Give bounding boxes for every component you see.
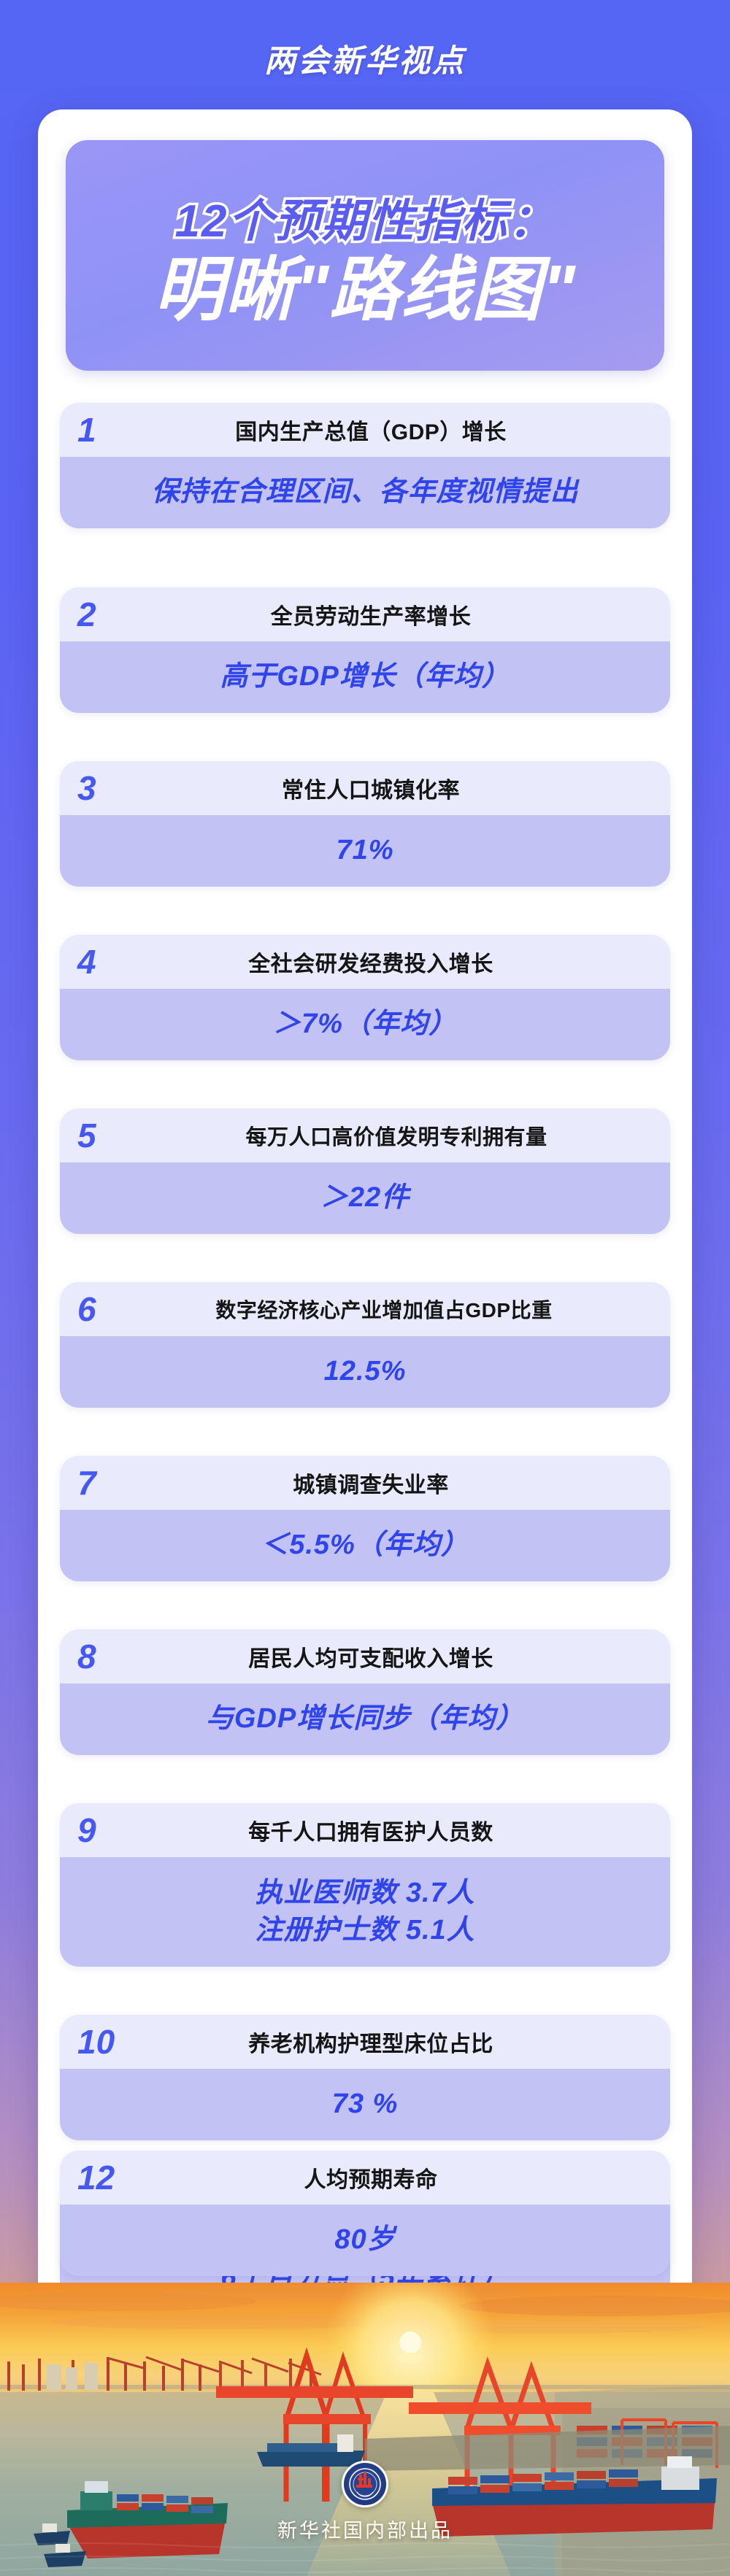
indicator-head-5: 5 每万人口高价值发明专利拥有量 — [60, 1108, 670, 1162]
indicator-head-2: 2 全员劳动生产率增长 — [60, 587, 670, 641]
indicator-value-9-line1: 执业医师数 3.7人 — [255, 1875, 474, 1912]
indicator-value-3: 71% — [336, 832, 393, 869]
indicator-head-8: 8 居民人均可支配收入增长 — [60, 1630, 670, 1684]
indicator-value-8: 与GDP增长同步（年均） — [206, 1700, 524, 1738]
indicator-head-1: 1 国内生产总值（GDP）增长 — [60, 403, 670, 457]
indicator-number-5: 5 — [77, 1119, 140, 1152]
indicator-value-6: 12.5% — [324, 1353, 407, 1390]
indicator-card-8[interactable]: 8 居民人均可支配收入增长 与GDP增长同步（年均） — [60, 1630, 670, 1755]
indicator-label-6: 数字经济核心产业增加值占GDP比重 — [115, 1295, 653, 1324]
indicator-head-7: 7 城镇调查失业率 — [60, 1456, 670, 1510]
indicator-label-5: 每万人口高价值发明专利拥有量 — [140, 1120, 653, 1151]
indicator-value-12: 80岁 — [334, 2221, 395, 2259]
indicator-number-7: 7 — [77, 1466, 140, 1500]
indicator-value-box-12: 80岁 — [60, 2205, 670, 2276]
indicator-label-4: 全社会研发经费投入增长 — [140, 946, 653, 978]
indicator-label-7: 城镇调查失业率 — [140, 1467, 653, 1499]
indicator-label-1: 国内生产总值（GDP）增长 — [140, 414, 653, 446]
indicator-value-box-9: 执业医师数 3.7人 注册护士数 5.1人 — [60, 1857, 670, 1967]
indicator-number-6: 6 — [77, 1292, 115, 1326]
infographic-page: 两会新华视点 12个预期性指标： 明晰"路线图" 1 国内生产总值（GDP）增长… — [0, 0, 730, 2576]
indicator-label-9: 每千人口拥有医护人员数 — [140, 1814, 653, 1846]
indicator-label-8: 居民人均可支配收入增长 — [140, 1640, 653, 1673]
indicator-card-5[interactable]: 5 每万人口高价值发明专利拥有量 ＞22件 — [60, 1108, 670, 1234]
indicator-value-box-1: 保持在合理区间、各年度视情提出 — [60, 457, 670, 528]
indicator-label-2: 全员劳动生产率增长 — [140, 598, 653, 630]
indicator-label-10: 养老机构护理型床位占比 — [140, 2026, 653, 2058]
indicator-number-4: 4 — [77, 945, 140, 979]
title-line-2: 明晰"路线图" — [154, 254, 576, 328]
indicator-number-1: 1 — [77, 413, 140, 447]
footer-credit-text: 新华社国内部出品 — [277, 2515, 453, 2543]
indicator-card-3[interactable]: 3 常住人口城镇化率 71% — [60, 761, 670, 887]
indicator-value-2: 高于GDP增长（年均） — [220, 658, 510, 695]
indicator-number-12: 12 — [77, 2161, 140, 2194]
masthead-title: 两会新华视点 — [264, 36, 466, 81]
indicator-value-4: ＞7%（年均） — [273, 1006, 457, 1043]
indicator-number-8: 8 — [77, 1640, 140, 1673]
indicator-head-6: 6 数字经济核心产业增加值占GDP比重 — [60, 1282, 670, 1336]
indicator-value-box-8: 与GDP增长同步（年均） — [60, 1684, 670, 1755]
indicator-number-3: 3 — [77, 771, 140, 805]
indicator-value-10: 73 % — [332, 2086, 399, 2123]
title-card: 12个预期性指标： 明晰"路线图" — [66, 140, 664, 371]
indicator-number-2: 2 — [77, 598, 140, 631]
indicator-number-9: 9 — [77, 1813, 140, 1847]
indicator-value-box-2: 高于GDP增长（年均） — [60, 641, 670, 713]
indicator-number-10: 10 — [77, 2025, 140, 2059]
indicator-value-box-7: ＜5.5%（年均） — [60, 1510, 670, 1581]
xinhua-logo-icon — [342, 2461, 388, 2507]
indicator-value-9-line2: 注册护士数 5.1人 — [255, 1912, 474, 1949]
indicator-head-12: 12 人均预期寿命 — [60, 2151, 670, 2205]
indicator-value-box-3: 71% — [60, 815, 670, 887]
indicator-card-1[interactable]: 1 国内生产总值（GDP）增长 保持在合理区间、各年度视情提出 — [60, 403, 670, 528]
indicator-card-12[interactable]: 12 人均预期寿命 80岁 — [60, 2151, 670, 2276]
indicator-label-12: 人均预期寿命 — [140, 2162, 653, 2194]
indicator-value-7: ＜5.5%（年均） — [261, 1527, 469, 1564]
xinhua-emblem-icon — [349, 2468, 381, 2500]
indicator-value-5: ＞22件 — [320, 1179, 410, 1216]
title-line-1: 12个预期性指标： — [175, 184, 556, 250]
indicator-head-9: 9 每千人口拥有医护人员数 — [60, 1803, 670, 1857]
indicator-value-1: 保持在合理区间、各年度视情提出 — [151, 474, 578, 511]
indicator-card-9[interactable]: 9 每千人口拥有医护人员数 执业医师数 3.7人 注册护士数 5.1人 — [60, 1803, 670, 1967]
indicator-head-4: 4 全社会研发经费投入增长 — [60, 935, 670, 989]
indicator-value-box-10: 73 % — [60, 2069, 670, 2140]
indicator-label-3: 常住人口城镇化率 — [140, 772, 653, 804]
indicator-head-10: 10 养老机构护理型床位占比 — [60, 2015, 670, 2069]
indicator-value-box-5: ＞22件 — [60, 1162, 670, 1234]
indicator-head-3: 3 常住人口城镇化率 — [60, 761, 670, 815]
indicator-card-10[interactable]: 10 养老机构护理型床位占比 73 % — [60, 2015, 670, 2140]
masthead: 两会新华视点 — [0, 0, 730, 117]
indicator-card-7[interactable]: 7 城镇调查失业率 ＜5.5%（年均） — [60, 1456, 670, 1581]
indicator-card-4[interactable]: 4 全社会研发经费投入增长 ＞7%（年均） — [60, 935, 670, 1060]
indicator-card-6[interactable]: 6 数字经济核心产业增加值占GDP比重 12.5% — [60, 1282, 670, 1408]
indicator-value-box-4: ＞7%（年均） — [60, 989, 670, 1060]
indicator-value-box-6: 12.5% — [60, 1336, 670, 1408]
indicator-card-2[interactable]: 2 全员劳动生产率增长 高于GDP增长（年均） — [60, 587, 670, 713]
footer-block: 新华社国内部出品 — [0, 2461, 730, 2543]
